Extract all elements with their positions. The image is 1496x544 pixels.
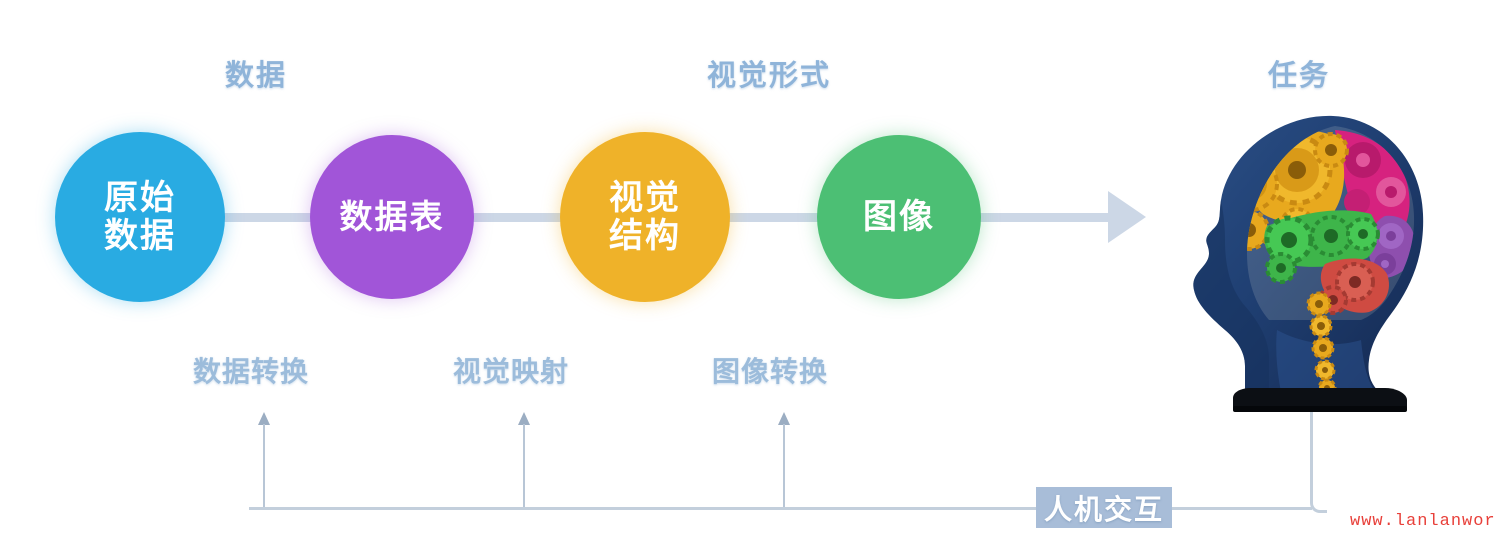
stage-label-visual-structure-line2: 结构 (609, 217, 681, 255)
stage-circle-raw-data[interactable]: 原始 数据 (55, 132, 225, 302)
stage-label-raw-data-line2: 数据 (104, 217, 176, 255)
feedback-arrow-line-3 (783, 424, 785, 509)
head-base-shadow (1233, 406, 1407, 412)
section-label-visual-form: 视觉形式 (707, 52, 831, 94)
site-watermark: www.lanlanwork.com (1350, 512, 1496, 531)
stage-label-data-table-line1: 数据表 (340, 199, 445, 236)
transform-label-image-transform: 图像转换 (712, 350, 828, 390)
output-arrow-shaft (972, 213, 1112, 222)
stage-circle-data-table[interactable]: 数据表 (310, 135, 474, 299)
connector-table-to-structure (466, 213, 568, 222)
section-label-data: 数据 (225, 52, 287, 94)
feedback-arrow-line-2 (523, 424, 525, 509)
feedback-corner (1310, 494, 1327, 513)
human-computer-interaction-badge[interactable]: 人机交互 (1036, 487, 1172, 528)
stage-circle-visual-structure[interactable]: 视觉 结构 (560, 132, 730, 302)
stage-label-raw-data-line1: 原始 (104, 179, 176, 217)
transform-label-visual-mapping: 视觉映射 (453, 350, 569, 390)
output-arrow-head-icon (1108, 191, 1146, 243)
feedback-arrow-line-1 (263, 424, 265, 509)
feedback-baseline-right (1170, 507, 1312, 510)
stage-label-visual-structure-line1: 视觉 (609, 179, 681, 217)
connector-raw-to-table (214, 213, 318, 222)
feedback-baseline-left (249, 507, 1039, 510)
section-label-task: 任务 (1268, 52, 1330, 94)
feedback-riser-to-brain (1310, 412, 1313, 496)
diagram-canvas: 数据 视觉形式 任务 原始 数据 数据表 视觉 结构 图像 数据转换 视觉映射 … (0, 0, 1496, 544)
connector-structure-to-image (722, 213, 824, 222)
stage-circle-image[interactable]: 图像 (817, 135, 981, 299)
stage-label-image-line1: 图像 (863, 198, 935, 236)
brain-gears-head-illustration (1185, 108, 1435, 420)
transform-label-data-transform: 数据转换 (193, 350, 309, 390)
